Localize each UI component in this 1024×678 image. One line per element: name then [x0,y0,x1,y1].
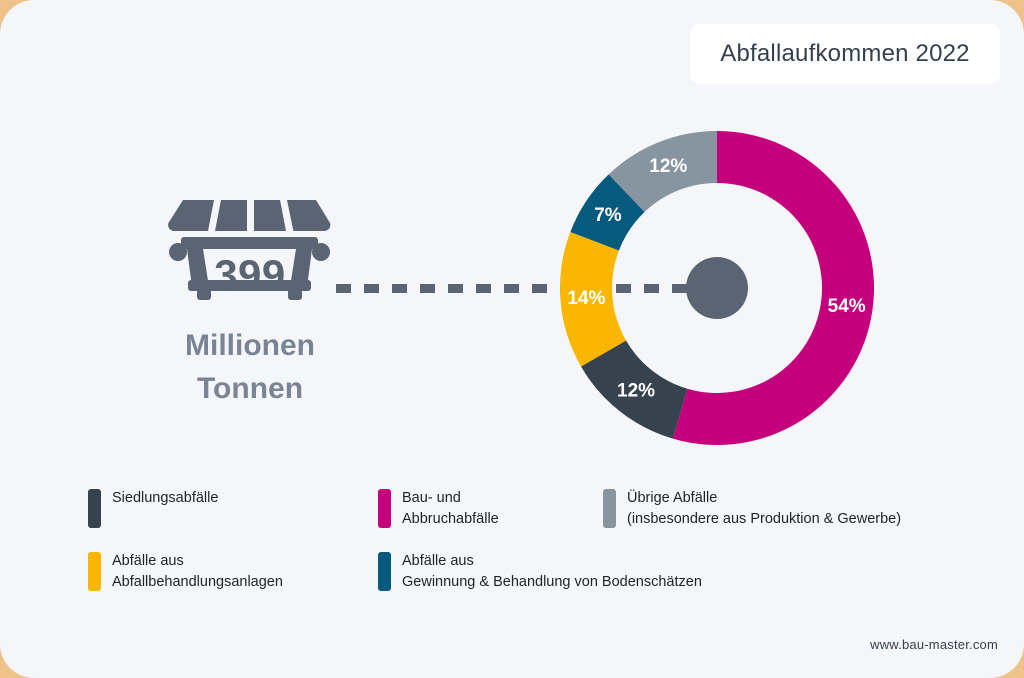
legend-swatch [378,552,391,591]
donut-slice-label: 54% [828,296,866,317]
donut-slice-label: 12% [617,380,655,401]
donut-slice-label: 7% [594,205,622,226]
legend-label-line2: Abbruchabfälle [402,509,499,530]
legend-label: Abfälle aus Gewinnung & Behandlung von B… [402,551,702,593]
headline-figure: 399 Millionen Tonnen [150,196,350,421]
legend-label-line1: Übrige Abfälle [627,488,901,509]
legend-label: Siedlungsabfälle [112,488,218,509]
legend-label-line2: Siedlungsabfälle [112,488,218,509]
footer-url: www.bau-master.com [870,637,998,652]
donut-slice-label: 14% [567,288,605,309]
legend-uebrige-abfaelle[interactable]: Übrige Abfälle (insbesondere aus Produkt… [603,488,901,530]
legend-swatch [378,489,391,528]
legend-siedlungsabfaelle[interactable]: Siedlungsabfälle [88,488,218,528]
legend-label: Bau- und Abbruchabfälle [402,488,499,530]
legend-swatch [88,552,101,591]
headline-unit: Millionen Tonnen [150,324,350,410]
legend-label: Übrige Abfälle (insbesondere aus Produkt… [627,488,901,530]
page-title: Abfallaufkommen 2022 [720,40,969,68]
title-box: Abfallaufkommen 2022 [690,24,1000,84]
legend-label-line2: Abfallbehandlungsanlagen [112,572,283,593]
legend-label-line1: Bau- und [402,488,499,509]
headline-unit-line2: Tonnen [150,367,350,410]
infographic-card: Abfallaufkommen 2022 [0,0,1024,678]
legend-label: Abfälle aus Abfallbehandlungsanlagen [112,551,283,593]
legend-bau-und-abbruchabfaelle[interactable]: Bau- und Abbruchabfälle [378,488,499,530]
legend-swatch [603,489,616,528]
headline-value: 399 [150,251,350,299]
legend-abfallbehandlungsanlagen[interactable]: Abfälle aus Abfallbehandlungsanlagen [88,551,283,593]
legend-label-line1: Abfälle aus [402,551,702,572]
legend-label-line1: Abfälle aus [112,551,283,572]
chart-legend: Siedlungsabfälle Bau- und Abbruchabfälle… [88,488,968,608]
legend-bodenschaetze[interactable]: Abfälle aus Gewinnung & Behandlung von B… [378,551,702,593]
legend-swatch [88,489,101,528]
legend-label-line2: Gewinnung & Behandlung von Bodenschätzen [402,572,702,593]
donut-slice-label: 12% [649,156,687,177]
donut-chart: 54%12%14%7%12% [560,131,874,445]
donut-center-dot [686,257,748,319]
headline-unit-line1: Millionen [150,324,350,367]
legend-label-line2: (insbesondere aus Produktion & Gewerbe) [627,509,901,530]
